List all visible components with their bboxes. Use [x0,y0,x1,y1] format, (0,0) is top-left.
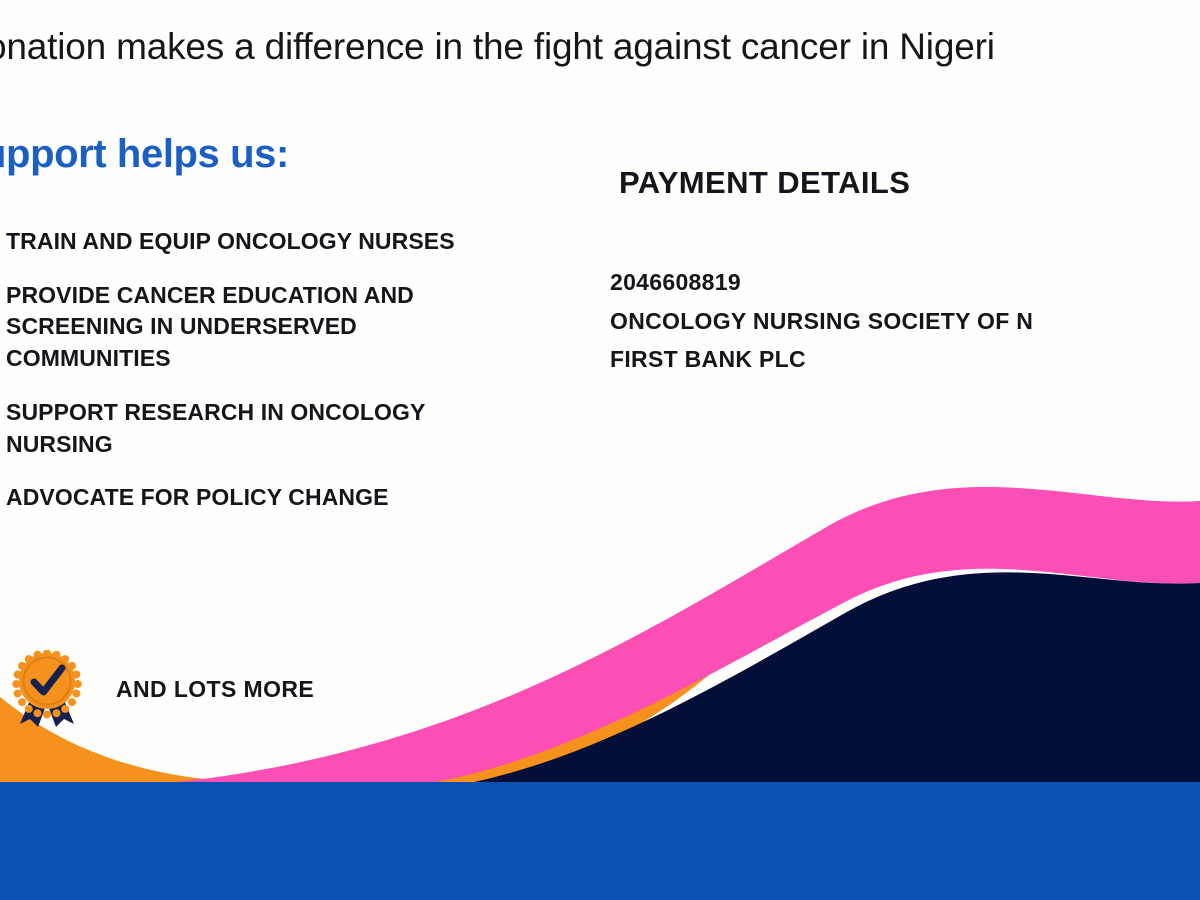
payment-account-number: 2046608819 [610,263,1200,302]
payment-details-section: PAYMENT DETAILS 2046608819 ONCOLOGY NURS… [610,165,1200,379]
support-heading: upport helps us: [0,132,289,177]
payment-account-name: ONCOLOGY NURSING SOCIETY OF N [610,302,1200,341]
slide-content: onation makes a difference in the fight … [0,0,1200,900]
and-lots-more-label: AND LOTS MORE [116,676,314,703]
award-rosette-check-icon [10,650,84,728]
payment-details-lines: 2046608819 ONCOLOGY NURSING SOCIETY OF N… [610,263,1200,379]
payment-bank-name: FIRST BANK PLC [610,340,1200,379]
and-lots-more-row: AND LOTS MORE [10,650,314,728]
list-item: SUPPORT RESEARCH IN ONCOLOGY NURSING [6,397,458,460]
benefits-list: TRAIN AND EQUIP ONCOLOGY NURSES PROVIDE … [6,226,458,536]
slide-canvas: onation makes a difference in the fight … [0,0,1200,900]
list-item: TRAIN AND EQUIP ONCOLOGY NURSES [6,226,458,258]
list-item: PROVIDE CANCER EDUCATION AND SCREENING I… [6,280,458,375]
page-headline: onation makes a difference in the fight … [0,27,1200,68]
list-item: ADVOCATE FOR POLICY CHANGE [6,482,458,514]
payment-details-title: PAYMENT DETAILS [619,165,1200,201]
